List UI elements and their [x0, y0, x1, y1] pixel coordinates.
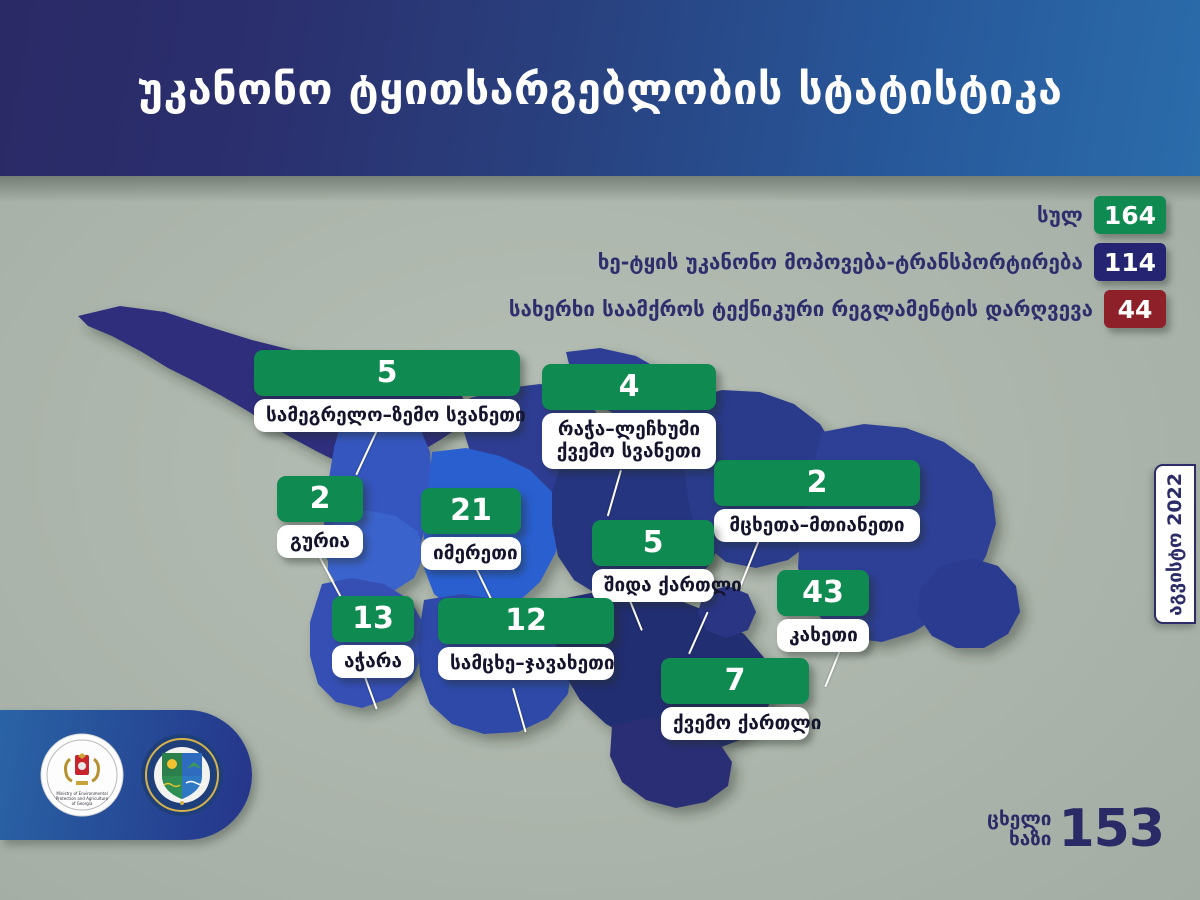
- marker-label-adjara: აჭარა: [332, 645, 414, 678]
- marker-label-imereti: იმერეთი: [421, 537, 521, 570]
- hotline-line1: ცხელი: [987, 810, 1051, 829]
- legend-row-sawmill-regulation-violation: სახერხი საამქროს ტექნიკური რეგლამენტის დ…: [509, 290, 1166, 328]
- legend-value-illegal-logging-transport: 114: [1094, 243, 1166, 281]
- date-tab: აგვისტო 2022: [1154, 464, 1196, 624]
- legend-label-total: სულ: [1037, 205, 1083, 226]
- marker-value-kvemo-kartli: 7: [661, 658, 809, 704]
- infographic-canvas: უკანონო ტყითსარგებლობის სტატისტიკა სულ 1…: [0, 0, 1200, 900]
- marker-value-guria: 2: [277, 476, 363, 522]
- marker-label-kakheti: კახეთი: [777, 619, 869, 652]
- legend-label-sawmill-regulation-violation: სახერხი საამქროს ტექნიკური რეგლამენტის დ…: [509, 299, 1093, 320]
- date-tab-label: აგვისტო 2022: [1166, 473, 1185, 616]
- marker-samtskhe-javakheti[interactable]: 12 სამცხე–ჯავახეთი: [438, 598, 614, 680]
- marker-value-adjara: 13: [332, 596, 414, 642]
- legend-value-total: 164: [1094, 196, 1166, 234]
- marker-label-kvemo-kartli: ქვემო ქართლი: [661, 707, 809, 740]
- marker-label-samegrelo-zemo-svaneti: სამეგრელო–ზემო სვანეთი: [254, 399, 520, 432]
- marker-kvemo-kartli[interactable]: 7 ქვემო ქართლი: [661, 658, 809, 740]
- marker-guria[interactable]: 2 გურია: [277, 476, 363, 558]
- ministry-of-environmental-protection-and-agriculture-emblem: Ministry of Environmental Protection and…: [40, 733, 124, 817]
- marker-samegrelo-zemo-svaneti[interactable]: 5 სამეგრელო–ზემო სვანეთი: [254, 350, 520, 432]
- legend-label-illegal-logging-transport: ხე-ტყის უკანონო მოპოვება-ტრანსპორტირება: [598, 252, 1083, 273]
- marker-racha-lechkhumi-kvemo-svaneti[interactable]: 4 რაჭა–ლეჩხუმი ქვემო სვანეთი: [542, 364, 716, 469]
- marker-value-mtskheta-mtianeti: 2: [714, 460, 920, 506]
- marker-value-imereti: 21: [421, 488, 521, 534]
- marker-adjara[interactable]: 13 აჭარა: [332, 596, 414, 678]
- header-banner: უკანონო ტყითსარგებლობის სტატისტიკა: [0, 0, 1200, 176]
- hotline-line2: ხაზი: [987, 830, 1051, 849]
- legend-row-total: სულ 164: [1037, 196, 1166, 234]
- page-title: უკანონო ტყითსარგებლობის სტატისტიკა: [138, 69, 1063, 112]
- marker-value-kakheti: 43: [777, 570, 869, 616]
- marker-imereti[interactable]: 21 იმერეთი: [421, 488, 521, 570]
- hotline-words: ცხელი ხაზი: [987, 810, 1051, 849]
- marker-value-samegrelo-zemo-svaneti: 5: [254, 350, 520, 396]
- marker-label-mtskheta-mtianeti: მცხეთა–მთიანეთი: [714, 509, 920, 542]
- marker-label-guria: გურია: [277, 525, 363, 558]
- svg-text:of Georgia: of Georgia: [72, 801, 93, 806]
- marker-kakheti[interactable]: 43 კახეთი: [777, 570, 869, 652]
- marker-value-racha-lechkhumi-kvemo-svaneti: 4: [542, 364, 716, 410]
- hotline-number: 153: [1058, 807, 1164, 852]
- legend-row-illegal-logging-transport: ხე-ტყის უკანონო მოპოვება-ტრანსპორტირება …: [598, 243, 1166, 281]
- marker-mtskheta-mtianeti[interactable]: 2 მცხეთა–მთიანეთი: [714, 460, 920, 542]
- department-of-environmental-supervision-emblem: [140, 733, 224, 817]
- legend: სულ 164 ხე-ტყის უკანონო მოპოვება-ტრანსპო…: [509, 196, 1166, 328]
- marker-label-racha-lechkhumi-kvemo-svaneti: რაჭა–ლეჩხუმი ქვემო სვანეთი: [542, 413, 716, 469]
- marker-value-samtskhe-javakheti: 12: [438, 598, 614, 644]
- hotline: ცხელი ხაზი 153: [987, 807, 1164, 852]
- legend-value-sawmill-regulation-violation: 44: [1104, 290, 1166, 328]
- marker-shida-kartli[interactable]: 5 შიდა ქართლი: [592, 520, 714, 602]
- marker-value-shida-kartli: 5: [592, 520, 714, 566]
- logo-bar: Ministry of Environmental Protection and…: [0, 710, 252, 840]
- marker-label-samtskhe-javakheti: სამცხე–ჯავახეთი: [438, 647, 614, 680]
